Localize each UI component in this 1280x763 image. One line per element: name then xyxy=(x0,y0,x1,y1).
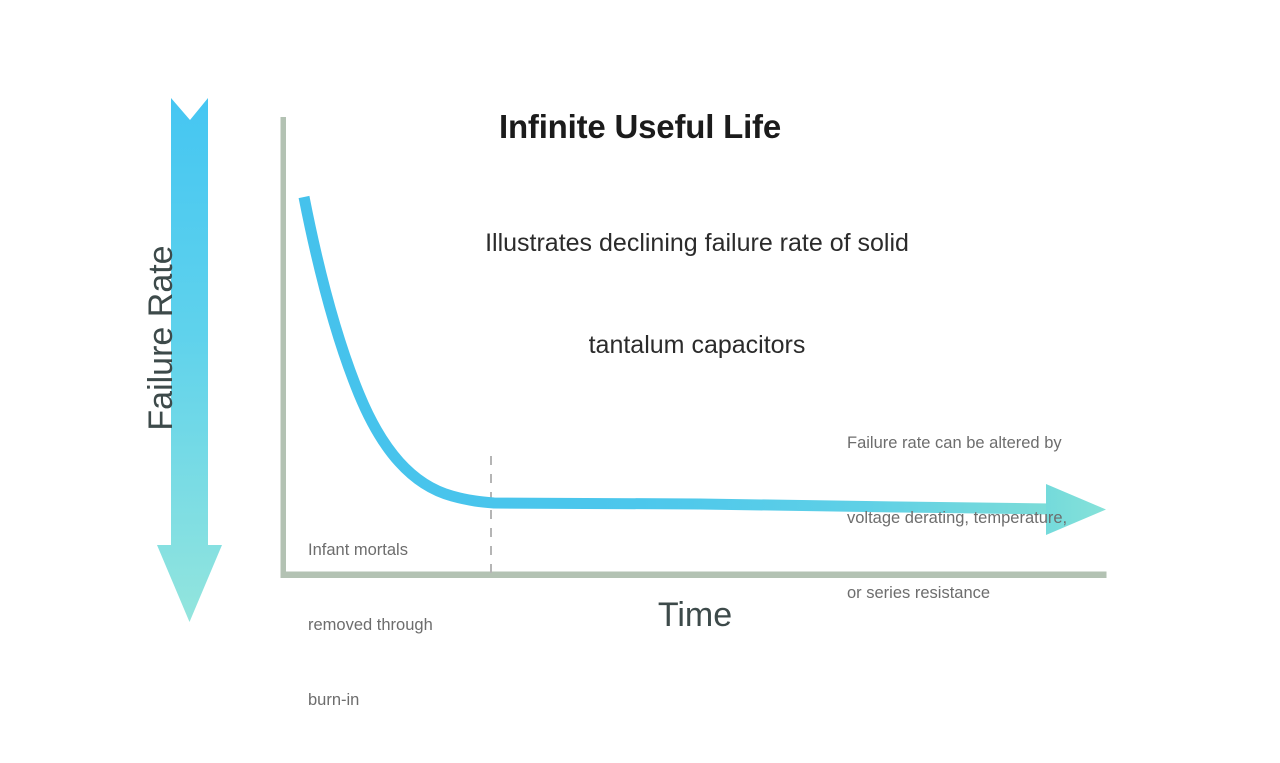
chart-subtitle-line-1: Illustrates declining failure rate of so… xyxy=(397,226,997,260)
annotation-burn-in: Infant mortals removed through burn-in xyxy=(308,488,493,763)
chart-subtitle-line-2: tantalum capacitors xyxy=(397,328,997,362)
annotation-derating-line-3: or series resistance xyxy=(847,581,1147,606)
annotation-derating: Failure rate can be altered by voltage d… xyxy=(847,381,1147,656)
y-axis-label: Failure Rate xyxy=(142,208,181,468)
annotation-burn-in-line-2: removed through xyxy=(308,613,493,638)
annotation-derating-line-1: Failure rate can be altered by xyxy=(847,431,1147,456)
page-title: Infinite Useful Life xyxy=(0,108,1280,146)
annotation-derating-line-2: voltage derating, temperature, xyxy=(847,506,1147,531)
x-axis-label: Time xyxy=(595,596,795,635)
failure-rate-chart: Infinite Useful Life Illustrates declini… xyxy=(0,0,1280,719)
annotation-burn-in-line-1: Infant mortals xyxy=(308,538,493,563)
y-axis-line xyxy=(281,117,287,578)
annotation-burn-in-line-3: burn-in xyxy=(308,688,493,713)
